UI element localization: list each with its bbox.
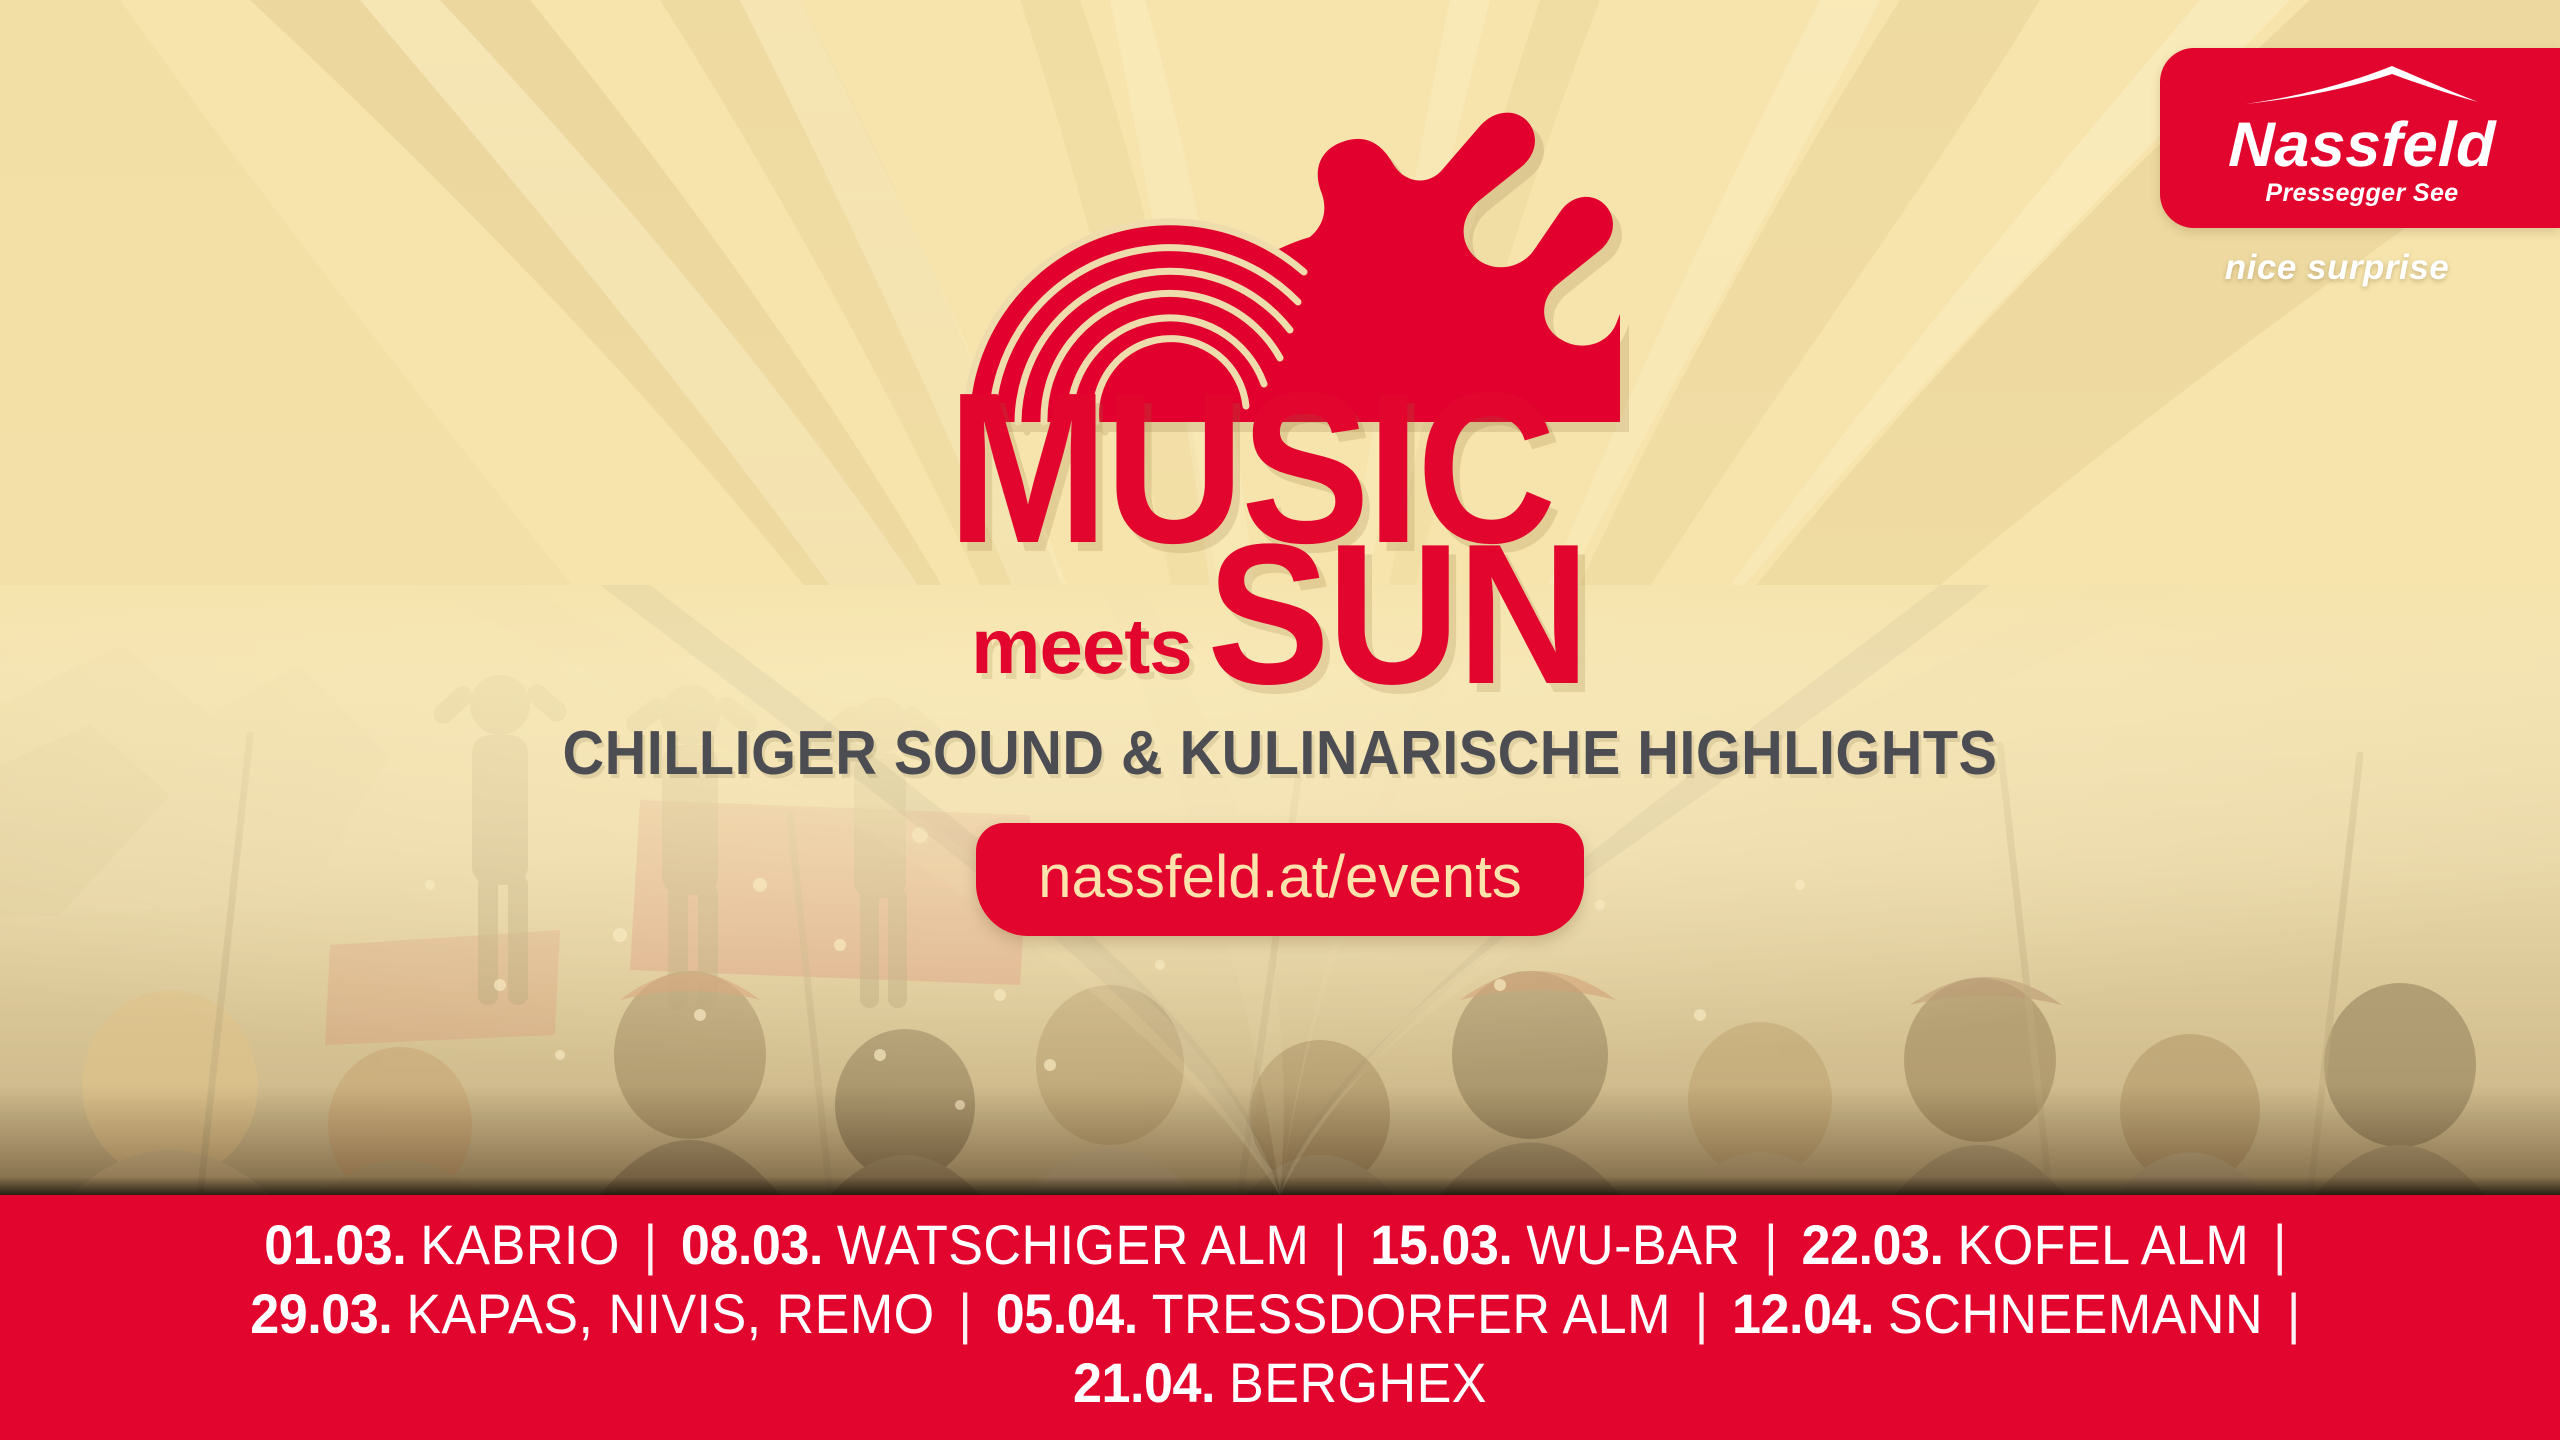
brand-name: Nassfeld [2203, 113, 2521, 177]
event-date: 22.03. [1801, 1213, 1957, 1276]
event-venue: WATSCHIGER ALM [837, 1213, 1309, 1276]
event-date: 21.04. [1073, 1351, 1229, 1414]
event-venue: BERGHEX [1229, 1351, 1487, 1414]
event-date: 29.03. [250, 1282, 406, 1345]
poster-root: MUSIC meets SUN CHILLIGER SOUND & KULINA… [0, 0, 2560, 1440]
event-date: 15.03. [1370, 1213, 1526, 1276]
brand-logo[interactable]: Nassfeld Pressegger See nice surprise [2130, 48, 2560, 288]
hero-subtitle: CHILLIGER SOUND & KULINARISCHE HIGHLIGHT… [90, 718, 2471, 789]
nassfeld-badge[interactable]: Nassfeld Pressegger See [2160, 48, 2560, 228]
event-separator: | [935, 1282, 996, 1345]
event-venue: KAPAS, NIVIS, REMO [406, 1282, 934, 1345]
mountain-peak-icon [2204, 62, 2520, 111]
cta-container: nassfeld.at/events [0, 823, 2560, 936]
event-date: 05.04. [996, 1282, 1152, 1345]
event-separator: | [2263, 1282, 2310, 1345]
events-list: 01.03. KABRIO | 08.03. WATSCHIGER ALM | … [229, 1211, 2331, 1418]
event-separator: | [620, 1213, 681, 1276]
event-venue: TRESSDORFER ALM [1152, 1282, 1671, 1345]
brand-tagline: nice surprise [2130, 248, 2560, 288]
event-separator: | [1740, 1213, 1801, 1276]
event-date: 01.03. [264, 1213, 420, 1276]
vinyl-record-sun-icon [960, 22, 1620, 422]
event-date: 08.03. [681, 1213, 837, 1276]
brand-region: Pressegger See [2204, 179, 2520, 208]
events-url-button[interactable]: nassfeld.at/events [976, 823, 1584, 936]
event-venue: WU-BAR [1526, 1213, 1740, 1276]
event-separator: | [1309, 1213, 1370, 1276]
event-venue: SCHNEEMANN [1888, 1282, 2263, 1345]
event-date: 12.04. [1732, 1282, 1888, 1345]
event-venue: KABRIO [420, 1213, 620, 1276]
events-footer: 01.03. KABRIO | 08.03. WATSCHIGER ALM | … [0, 1195, 2560, 1440]
event-venue: KOFEL ALM [1957, 1213, 2249, 1276]
event-separator: | [2249, 1213, 2296, 1276]
event-separator: | [1671, 1282, 1732, 1345]
